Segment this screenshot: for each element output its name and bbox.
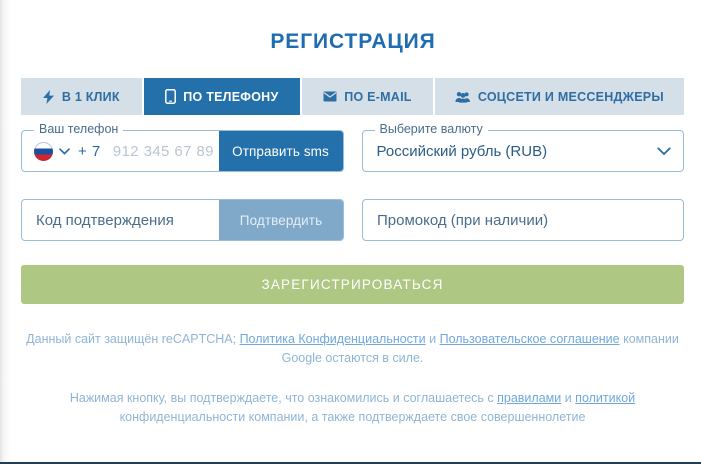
terms-of-use-link[interactable]: Пользовательское соглашение xyxy=(440,332,620,346)
registration-page: РЕГИСТРАЦИЯ В 1 КЛИК ПО ТЕЛЕФОН xyxy=(0,0,701,464)
russia-flag-icon[interactable] xyxy=(34,142,53,161)
envelope-icon xyxy=(323,91,337,102)
phone-field: + 7 Отправить sms xyxy=(21,130,344,172)
phone-dial-code: + 7 xyxy=(76,143,101,160)
registration-method-tabs: В 1 КЛИК ПО ТЕЛЕФОНУ П xyxy=(21,78,684,115)
promo-code-input[interactable] xyxy=(363,200,683,240)
phone-field-group: Ваш телефон + 7 Отправить sms xyxy=(21,130,344,172)
currency-field-group: Выберите валюту Российский рубль (RUB) xyxy=(362,130,685,172)
recaptcha-notice: Данный сайт защищён reCAPTCHA; Политика … xyxy=(21,330,684,368)
terms-text-1: Нажимая кнопку, вы подтверждаете, что оз… xyxy=(70,391,497,405)
registration-content: РЕГИСТРАЦИЯ В 1 КЛИК ПО ТЕЛЕФОН xyxy=(20,0,686,462)
policy-link[interactable]: политикой xyxy=(575,391,635,405)
register-submit-button[interactable]: ЗАРЕГИСТРИРОВАТЬСЯ xyxy=(21,265,684,304)
confirmation-code-field: Подтвердить xyxy=(21,199,344,241)
promo-field-group xyxy=(362,199,684,241)
recaptcha-text-2: и xyxy=(426,332,440,346)
promo-code-field xyxy=(362,199,684,241)
bolt-icon xyxy=(43,90,55,104)
tab-social-messengers[interactable]: СОЦСЕТИ И МЕССЕНДЖЕРЫ xyxy=(435,78,684,115)
code-field-group: Подтвердить xyxy=(21,199,344,241)
tab-by-email-label: ПО E-MAIL xyxy=(344,90,411,104)
currency-selected-value: Российский рубль (RUB) xyxy=(363,131,646,171)
terms-text-2: и xyxy=(561,391,575,405)
terms-text-3: конфиденциальности компании, а также под… xyxy=(120,410,586,424)
tab-one-click-label: В 1 КЛИК xyxy=(62,90,120,104)
tab-by-phone[interactable]: ПО ТЕЛЕФОНУ xyxy=(144,78,301,115)
terms-notice: Нажимая кнопку, вы подтверждаете, что оз… xyxy=(21,389,684,427)
phone-field-legend: Ваш телефон xyxy=(34,122,123,136)
mobile-phone-icon xyxy=(165,89,176,104)
recaptcha-text-1: Данный сайт защищён reCAPTCHA; xyxy=(26,332,239,346)
tab-by-phone-label: ПО ТЕЛЕФОНУ xyxy=(183,90,278,104)
rules-link[interactable]: правилами xyxy=(497,391,561,405)
tab-one-click[interactable]: В 1 КЛИК xyxy=(21,78,142,115)
tab-social-messengers-label: СОЦСЕТИ И МЕССЕНДЖЕРЫ xyxy=(478,90,664,104)
users-group-icon xyxy=(455,91,471,103)
privacy-policy-link[interactable]: Политика Конфиденциальности xyxy=(240,332,426,346)
page-title: РЕГИСТРАЦИЯ xyxy=(20,0,686,56)
phone-number-input[interactable] xyxy=(107,143,219,160)
phone-input-area: + 7 xyxy=(22,131,219,171)
tab-by-email[interactable]: ПО E-MAIL xyxy=(302,78,433,115)
chevron-down-icon[interactable] xyxy=(645,131,683,171)
confirmation-code-input[interactable] xyxy=(22,200,219,240)
currency-field-legend: Выберите валюту xyxy=(375,122,488,136)
form-row-phone-currency: Ваш телефон + 7 Отправить sms xyxy=(21,130,684,172)
confirm-code-button[interactable]: Подтвердить xyxy=(219,200,343,240)
currency-select[interactable]: Российский рубль (RUB) xyxy=(362,130,685,172)
form-row-code-promo: Подтвердить xyxy=(21,199,684,241)
chevron-down-icon[interactable] xyxy=(59,148,70,155)
send-sms-button[interactable]: Отправить sms xyxy=(219,131,343,171)
